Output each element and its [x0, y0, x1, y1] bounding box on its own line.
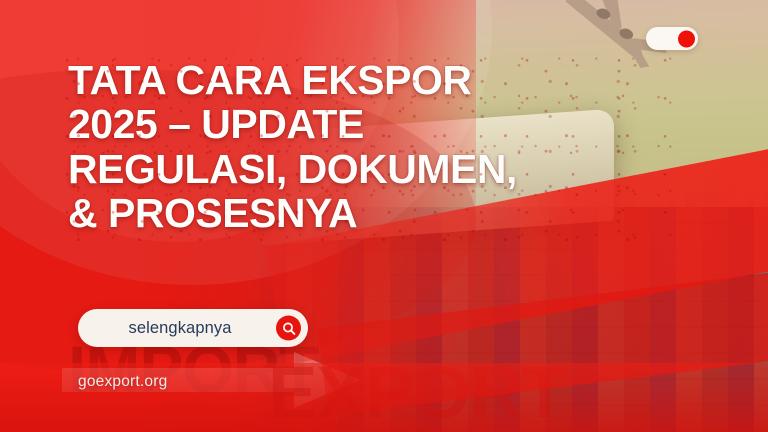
page-title: TATA CARA EKSPOR 2025 – UPDATE REGULASI,… — [68, 58, 668, 235]
headline-line-2: 2025 – UPDATE — [68, 102, 668, 146]
status-toggle[interactable] — [646, 27, 698, 50]
toggle-knob-icon — [678, 30, 695, 47]
headline-line-4: & PROSESNYA — [68, 191, 668, 235]
headline-line-1: TATA CARA EKSPOR — [68, 58, 668, 102]
promo-banner: IMPORT EXPORT TATA CARA EKSPOR 2025 – UP… — [0, 0, 768, 432]
site-url: goexport.org — [78, 373, 167, 391]
read-more-label: selengkapnya — [128, 319, 231, 338]
search-icon[interactable] — [276, 316, 301, 341]
search-glyph — [282, 321, 296, 335]
read-more-button[interactable]: selengkapnya — [78, 309, 308, 347]
headline-line-3: REGULASI, DOKUMEN, — [68, 147, 668, 191]
